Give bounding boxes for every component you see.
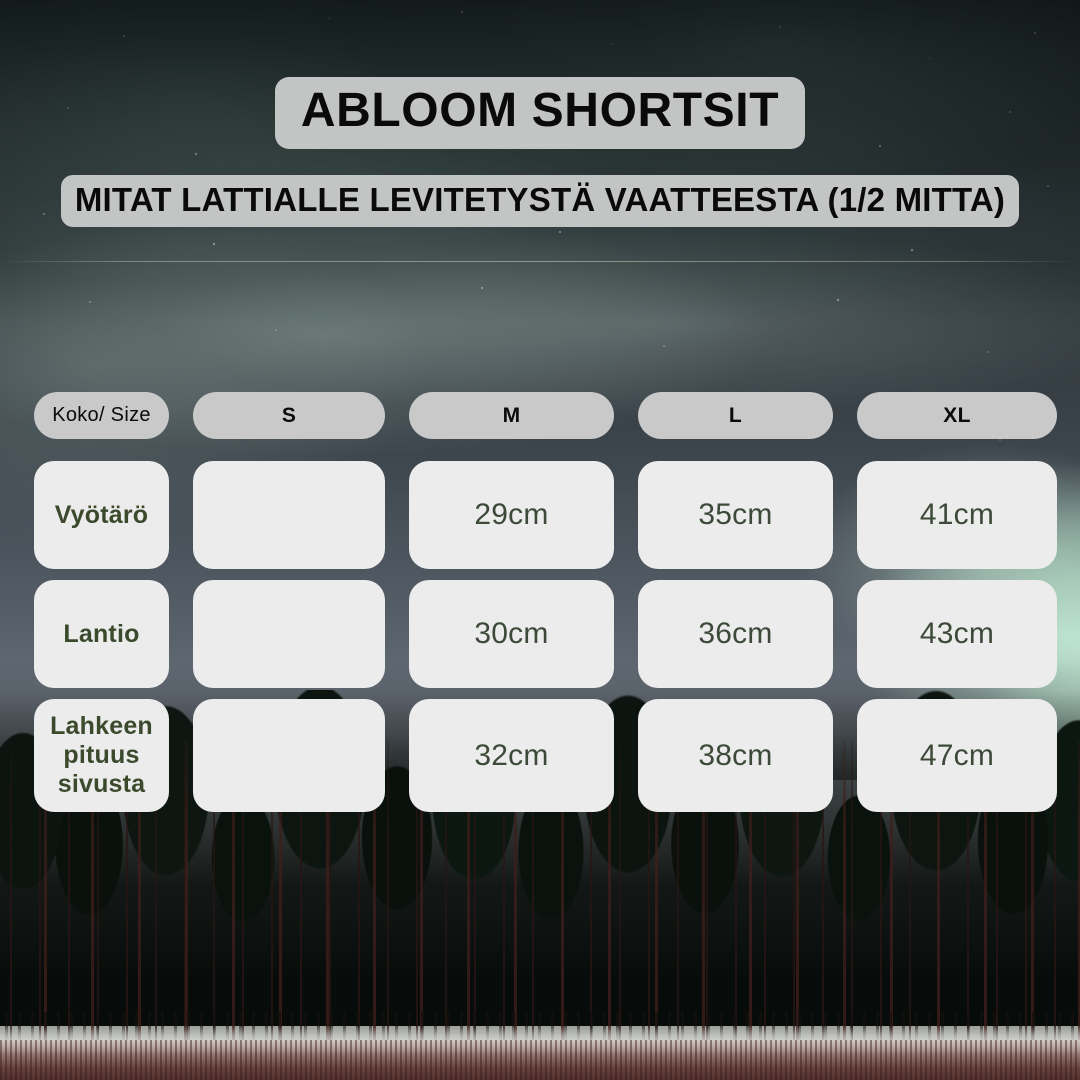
title-container: ABLOOM SHORTSIT <box>0 77 1080 149</box>
cell-lahkeen-xl: 47cm <box>857 699 1057 812</box>
page-subtitle: MITAT LATTIALLE LEVITETYSTÄ VAATTEESTA (… <box>61 175 1019 227</box>
cell-lahkeen-s <box>193 699 385 812</box>
table-row: Vyötärö 29cm 35cm 41cm <box>34 461 1046 569</box>
table-row: Lahkeen pituus sivusta 32cm 38cm 47cm <box>34 699 1046 812</box>
size-chart-graphic: ABLOOM SHORTSIT MITAT LATTIALLE LEVITETY… <box>0 0 1080 1080</box>
foreground-grass <box>0 1040 1080 1080</box>
row-label-lahkeen-pituus-sivusta: Lahkeen pituus sivusta <box>34 699 169 812</box>
column-header-l: L <box>638 392 833 439</box>
horizon-hairline <box>0 261 1080 262</box>
column-header-xl: XL <box>857 392 1057 439</box>
row-label-vyotaro: Vyötärö <box>34 461 169 569</box>
table-row: Lantio 30cm 36cm 43cm <box>34 580 1046 688</box>
page-title: ABLOOM SHORTSIT <box>275 77 805 149</box>
cell-vyotaro-s <box>193 461 385 569</box>
cell-lahkeen-l: 38cm <box>638 699 833 812</box>
cell-vyotaro-xl: 41cm <box>857 461 1057 569</box>
cell-lantio-xl: 43cm <box>857 580 1057 688</box>
cell-lahkeen-m: 32cm <box>409 699 614 812</box>
cell-vyotaro-l: 35cm <box>638 461 833 569</box>
subtitle-container: MITAT LATTIALLE LEVITETYSTÄ VAATTEESTA (… <box>0 175 1080 227</box>
table-header-row: Koko/ Size S M L XL <box>34 392 1046 439</box>
column-header-s: S <box>193 392 385 439</box>
row-label-lantio: Lantio <box>34 580 169 688</box>
cell-lantio-s <box>193 580 385 688</box>
cell-vyotaro-m: 29cm <box>409 461 614 569</box>
cell-lantio-l: 36cm <box>638 580 833 688</box>
measurement-table: Koko/ Size S M L XL Vyötärö 29cm 35cm 41… <box>34 392 1046 823</box>
cell-lantio-m: 30cm <box>409 580 614 688</box>
column-header-size-label: Koko/ Size <box>34 392 169 439</box>
column-header-m: M <box>409 392 614 439</box>
